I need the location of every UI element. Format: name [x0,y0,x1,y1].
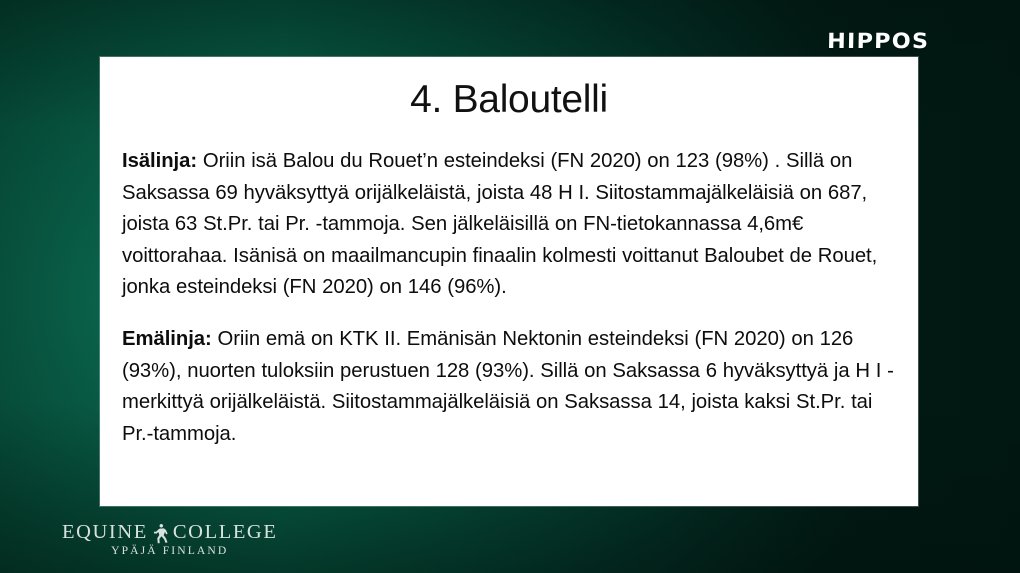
slide-body-text: Isälinja: Oriin isä Balou du Rouet’n est… [100,122,918,450]
paragraph-lead-emalinja: Emälinja: [122,328,212,350]
equine-college-logo: EQUINE COLLEGE YPÄJÄ FINLAND [62,522,277,558]
equine-college-wordmark: EQUINE COLLEGE [62,522,277,544]
equine-word-right: COLLEGE [173,522,278,544]
paragraph-isalinja: Isälinja: Oriin isä Balou du Rouet’n est… [122,146,898,304]
slide-content-card: 4. Baloutelli Isälinja: Oriin isä Balou … [100,57,918,506]
presentation-slide: HIPPOS 4. Baloutelli Isälinja: Oriin isä… [0,0,1020,573]
hippos-logo: HIPPOS [827,31,930,52]
equine-word-left: EQUINE [62,522,148,544]
page-title: 4. Baloutelli [100,57,918,122]
paragraph-text-isalinja: Oriin isä Balou du Rouet’n esteindeksi (… [122,150,877,298]
horse-rider-icon [152,523,169,544]
paragraph-text-emalinja: Oriin emä on KTK II. Emänisän Nektonin e… [122,328,894,445]
equine-college-subtitle: YPÄJÄ FINLAND [62,545,277,558]
paragraph-emalinja: Emälinja: Oriin emä on KTK II. Emänisän … [122,324,898,450]
paragraph-lead-isalinja: Isälinja: [122,150,197,172]
